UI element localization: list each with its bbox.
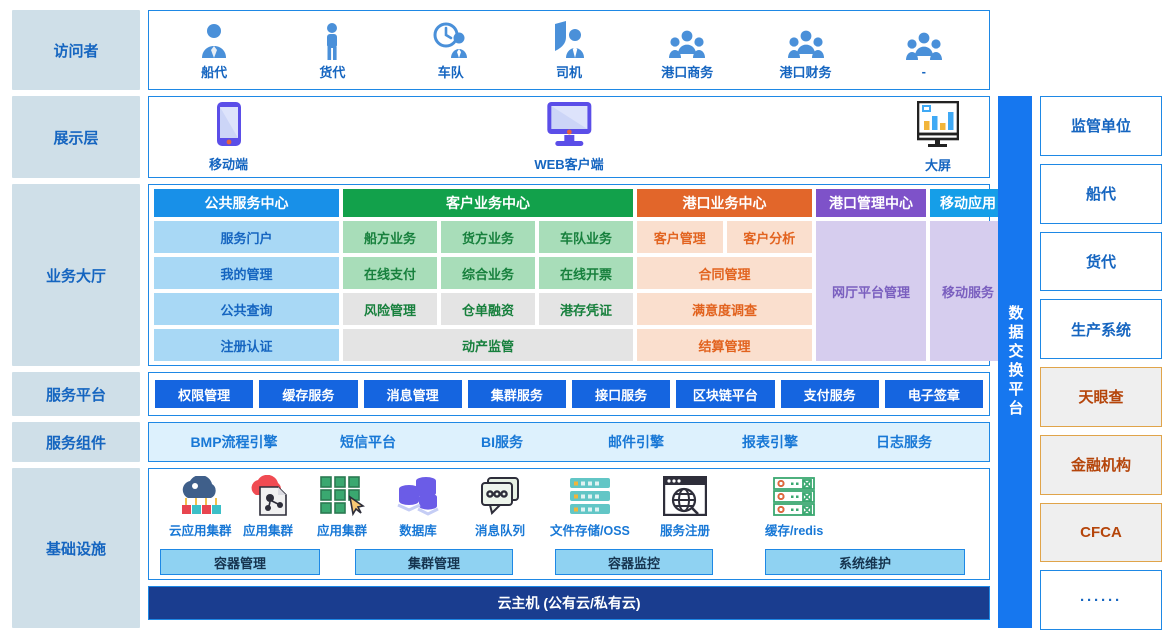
service-component-item[interactable]: BI服务 [435,432,569,452]
service-platform-button[interactable]: 区块链平台 [676,380,774,408]
people-group-icon [788,20,824,60]
infrastructure-icon-label: 服务注册 [660,520,710,539]
service-platform-layer: 权限管理缓存服务消息管理集群服务接口服务区块链平台支付服务电子签章 [148,372,990,416]
service-component-item[interactable]: BMP流程引擎 [167,432,301,452]
business-hall-row: 风险管理仓单融资港存凭证 [343,293,633,325]
layer-label-display: 展示层 [12,96,140,178]
business-hall-column-header[interactable]: 客户业务中心 [343,189,633,217]
business-hall-cells: 服务门户我的管理公共查询注册认证 [154,221,339,361]
business-hall-row: 合同管理 [637,257,812,289]
display-item[interactable]: 移动端 [209,101,248,173]
visitor-item[interactable]: 车队 [392,20,510,81]
service-platform-button[interactable]: 权限管理 [155,380,253,408]
business-hall-cell[interactable]: 货方业务 [441,221,535,253]
desktop-monitor-icon [546,101,592,152]
visitor-label: 车队 [438,62,464,81]
infrastructure-icon-item[interactable]: 服务注册 [660,473,710,539]
redis-rack-icon [772,473,816,519]
business-hall-column: 公共服务中心服务门户我的管理公共查询注册认证 [154,189,339,361]
infrastructure-buttons: 容器管理集群管理容器监控系统维护 [155,549,983,575]
layer-label-service-components: 服务组件 [12,422,140,462]
person-standing-icon [315,20,349,60]
infrastructure-button[interactable]: 容器管理 [160,549,320,575]
service-platform-button[interactable]: 集群服务 [468,380,566,408]
business-hall-cells: 客户管理客户分析合同管理满意度调查结算管理 [637,221,812,361]
infrastructure-icon-item[interactable]: 应用集群 [243,473,293,539]
layer-label-column: 访问者 展示层 业务大厅 服务平台 服务组件 基础设施 [0,0,140,644]
layer-label-visitor: 访问者 [12,10,140,90]
business-hall-row: 我的管理 [154,257,339,289]
business-hall-cell[interactable]: 在线支付 [343,257,437,289]
display-item-label: 大屏 [925,155,951,174]
service-component-item[interactable]: 日志服务 [837,432,971,452]
business-hall-row: 客户管理客户分析 [637,221,812,253]
external-system-item[interactable]: 船代 [1040,164,1162,224]
business-hall-cell[interactable]: 注册认证 [154,329,339,361]
people-group-icon [906,22,942,62]
infrastructure-icon-item[interactable]: 应用集群 [317,473,367,539]
business-hall-cells: 移动服务 [930,221,1006,361]
business-hall-cell[interactable]: 船方业务 [343,221,437,253]
business-hall-column: 港口业务中心客户管理客户分析合同管理满意度调查结算管理 [637,189,812,361]
business-hall-column-header[interactable]: 港口业务中心 [637,189,812,217]
service-platform-button[interactable]: 缓存服务 [259,380,357,408]
business-hall-cell[interactable]: 服务门户 [154,221,339,253]
infrastructure-button[interactable]: 容器监控 [555,549,713,575]
infrastructure-icon-item[interactable]: 消息队列 [475,473,525,539]
business-hall-row: 服务门户 [154,221,339,253]
grid-cursor-icon [319,473,365,519]
visitor-label: 船代 [201,62,227,81]
infrastructure-icon-label: 数据库 [399,520,437,539]
layer-label-infrastructure: 基础设施 [12,468,140,628]
business-hall-cell[interactable]: 风险管理 [343,293,437,325]
person-tie-icon [197,20,231,60]
business-hall-cell[interactable]: 网厅平台管理 [816,221,926,361]
chat-bubbles-icon [478,473,522,519]
cloud-host-bar: 云主机 (公有云/私有云) [148,586,990,620]
service-platform-button[interactable]: 支付服务 [781,380,879,408]
infrastructure-icon-item[interactable]: 文件存储/OSS [550,473,630,539]
external-system-item[interactable]: 金融机构 [1040,435,1162,495]
service-component-item[interactable]: 邮件引擎 [569,432,703,452]
shield-person-icon [551,20,587,60]
visitor-item[interactable]: 港口财务 [746,20,864,81]
business-hall-cells: 网厅平台管理 [816,221,926,361]
service-platform-button[interactable]: 消息管理 [364,380,462,408]
infrastructure-button[interactable]: 集群管理 [355,549,513,575]
server-rack-icon [568,473,612,519]
main-stack: 船代 货代 车队 司机 港口商务 港口财务 - 移动端 WEB客户端 大 [140,0,998,644]
business-hall-cell[interactable]: 在线开票 [539,257,633,289]
layer-label-business-hall: 业务大厅 [12,184,140,366]
external-system-item[interactable]: 监管单位 [1040,96,1162,156]
people-group-icon [669,20,705,60]
cloud-share-icon [246,473,290,519]
visitor-label: 司机 [556,62,582,81]
visitor-item[interactable]: 货代 [273,20,391,81]
service-component-item[interactable]: 短信平台 [301,432,435,452]
business-hall-row: 满意度调查 [637,293,812,325]
business-hall-column-header[interactable]: 港口管理中心 [816,189,926,217]
infrastructure-icon-item[interactable]: 数据库 [395,473,441,539]
service-platform-button[interactable]: 电子签章 [885,380,983,408]
business-hall-cell[interactable]: 客户管理 [637,221,723,253]
business-hall-row: 船方业务货方业务车队业务 [343,221,633,253]
business-hall-cell[interactable]: 我的管理 [154,257,339,289]
infrastructure-icon-item[interactable]: 缓存/redis [765,473,823,539]
business-hall-row: 结算管理 [637,329,812,361]
external-system-item[interactable]: 货代 [1040,232,1162,292]
infrastructure-icon-label: 文件存储/OSS [550,520,630,539]
external-system-item[interactable]: 生产系统 [1040,299,1162,359]
business-hall-column: 客户业务中心船方业务货方业务车队业务在线支付综合业务在线开票风险管理仓单融资港存… [343,189,633,361]
business-hall-cells: 船方业务货方业务车队业务在线支付综合业务在线开票风险管理仓单融资港存凭证动产监管 [343,221,633,361]
display-item-label: WEB客户端 [534,154,603,173]
business-hall-layer: 公共服务中心服务门户我的管理公共查询注册认证客户业务中心船方业务货方业务车队业务… [148,184,990,366]
visitor-item[interactable]: - [865,22,983,79]
big-screen-chart-icon [917,101,959,153]
service-platform-button[interactable]: 接口服务 [572,380,670,408]
visitor-item[interactable]: 船代 [155,20,273,81]
external-system-item[interactable]: ······ [1040,570,1162,630]
external-system-item[interactable]: CFCA [1040,503,1162,563]
visitor-item[interactable]: 司机 [510,20,628,81]
data-exchange-platform-bar: 数据交换平台 [998,96,1032,628]
display-layer: 移动端 WEB客户端 大屏 [148,96,990,178]
infrastructure-icon-item[interactable]: 云应用集群 [169,473,232,539]
infrastructure-button[interactable]: 系统维护 [765,549,965,575]
business-hall-cell[interactable]: 动产监管 [343,329,633,361]
infrastructure-icon-label: 缓存/redis [765,520,823,539]
architecture-diagram: 访问者 展示层 业务大厅 服务平台 服务组件 基础设施 船代 货代 车队 司机 … [0,0,1172,644]
mobile-phone-icon [215,101,243,152]
business-hall-cell[interactable]: 合同管理 [637,257,812,289]
business-hall-row: 公共查询 [154,293,339,325]
visitor-label: 港口财务 [780,62,832,81]
display-item[interactable]: WEB客户端 [534,101,603,173]
business-hall-cell[interactable]: 仓单融资 [441,293,535,325]
visitor-label: 货代 [319,62,345,81]
browser-globe-icon [663,473,707,519]
business-hall-cell[interactable]: 港存凭证 [539,293,633,325]
business-hall-cell[interactable]: 车队业务 [539,221,633,253]
business-hall-column: 移动应用移动服务 [930,189,1006,361]
business-hall-cell[interactable]: 综合业务 [441,257,535,289]
business-hall-column-header[interactable]: 移动应用 [930,189,1006,217]
external-systems-column: 监管单位船代货代生产系统天眼查金融机构CFCA······ [1032,0,1172,644]
business-hall-row: 在线支付综合业务在线开票 [343,257,633,289]
display-item[interactable]: 大屏 [917,101,959,174]
business-hall-column-header[interactable]: 公共服务中心 [154,189,339,217]
business-hall-cell[interactable]: 满意度调查 [637,293,812,325]
business-hall-row: 注册认证 [154,329,339,361]
infrastructure-layer: 云应用集群 应用集群 应用集群 数据库 消息队列 [148,468,990,580]
visitor-label: 港口商务 [661,62,713,81]
infrastructure-icon-label: 消息队列 [475,520,525,539]
business-hall-cell[interactable]: 客户分析 [727,221,813,253]
clock-person-icon [432,20,470,60]
service-component-item[interactable]: 报表引擎 [703,432,837,452]
business-hall-row: 动产监管 [343,329,633,361]
business-hall-cell[interactable]: 公共查询 [154,293,339,325]
data-exchange-platform-label: 数据交换平台 [1005,305,1026,419]
infrastructure-icons: 云应用集群 应用集群 应用集群 数据库 消息队列 [155,473,983,549]
display-item-label: 移动端 [209,154,248,173]
business-hall-column: 港口管理中心网厅平台管理 [816,189,926,361]
cloud-nodes-icon [177,473,223,519]
visitor-label: - [922,64,926,79]
visitor-layer: 船代 货代 车队 司机 港口商务 港口财务 - [148,10,990,90]
business-hall-cell[interactable]: 结算管理 [637,329,812,361]
infrastructure-icon-label: 应用集群 [243,520,293,539]
layer-label-service-platform: 服务平台 [12,372,140,416]
external-system-item[interactable]: 天眼查 [1040,367,1162,427]
database-stack-icon [395,473,441,519]
infrastructure-icon-label: 应用集群 [317,520,367,539]
infrastructure-icon-label: 云应用集群 [169,520,232,539]
service-components-layer: BMP流程引擎短信平台BI服务邮件引擎报表引擎日志服务 [148,422,990,462]
business-hall-cell[interactable]: 移动服务 [930,221,1006,361]
visitor-item[interactable]: 港口商务 [628,20,746,81]
